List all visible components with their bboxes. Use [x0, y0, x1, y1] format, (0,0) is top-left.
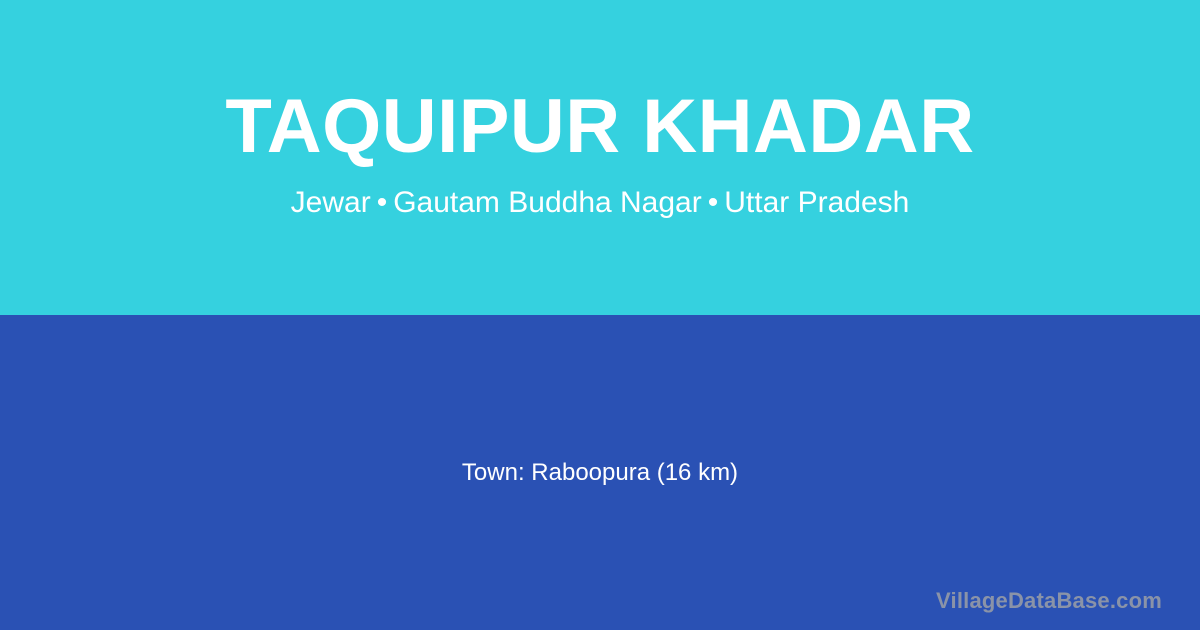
header-band: TAQUIPUR KHADAR Jewar•Gautam Buddha Naga… [0, 0, 1200, 315]
breadcrumb-district: Gautam Buddha Nagar [393, 186, 702, 219]
breadcrumb-sub-district: Jewar [291, 186, 371, 219]
nearest-town-text: Town: Raboopura (16 km) [462, 457, 738, 488]
details-band: Town: Raboopura (16 km) VillageDataBase.… [0, 315, 1200, 630]
breadcrumb-separator-2: • [702, 185, 725, 221]
village-info-card: TAQUIPUR KHADAR Jewar•Gautam Buddha Naga… [0, 0, 1200, 630]
breadcrumb-separator-1: • [371, 185, 394, 221]
breadcrumb-state: Uttar Pradesh [724, 186, 909, 219]
page-title: TAQUIPUR KHADAR [225, 88, 974, 166]
location-breadcrumb: Jewar•Gautam Buddha Nagar•Uttar Pradesh [291, 185, 910, 221]
site-watermark: VillageDataBase.com [936, 588, 1162, 614]
